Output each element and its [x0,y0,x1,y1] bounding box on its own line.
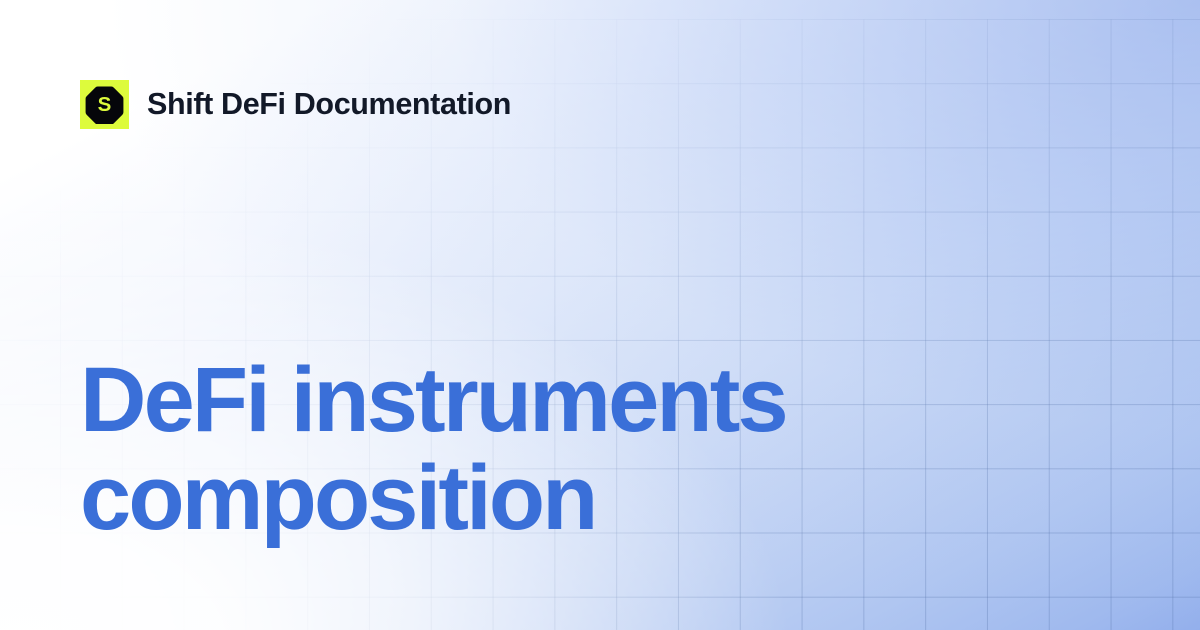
og-card: S Shift DeFi Documentation DeFi instrume… [0,0,1200,630]
page-title: DeFi instruments composition [80,352,980,547]
page-title-line-1: DeFi instruments [80,352,980,450]
shift-octagon-logo-icon: S [80,80,129,129]
svg-text:S: S [98,93,112,116]
brand-name: Shift DeFi Documentation [147,89,511,120]
card-content: S Shift DeFi Documentation DeFi instrume… [0,0,1200,630]
brand-lockup: S Shift DeFi Documentation [80,80,511,129]
page-title-line-2: composition [80,450,980,548]
